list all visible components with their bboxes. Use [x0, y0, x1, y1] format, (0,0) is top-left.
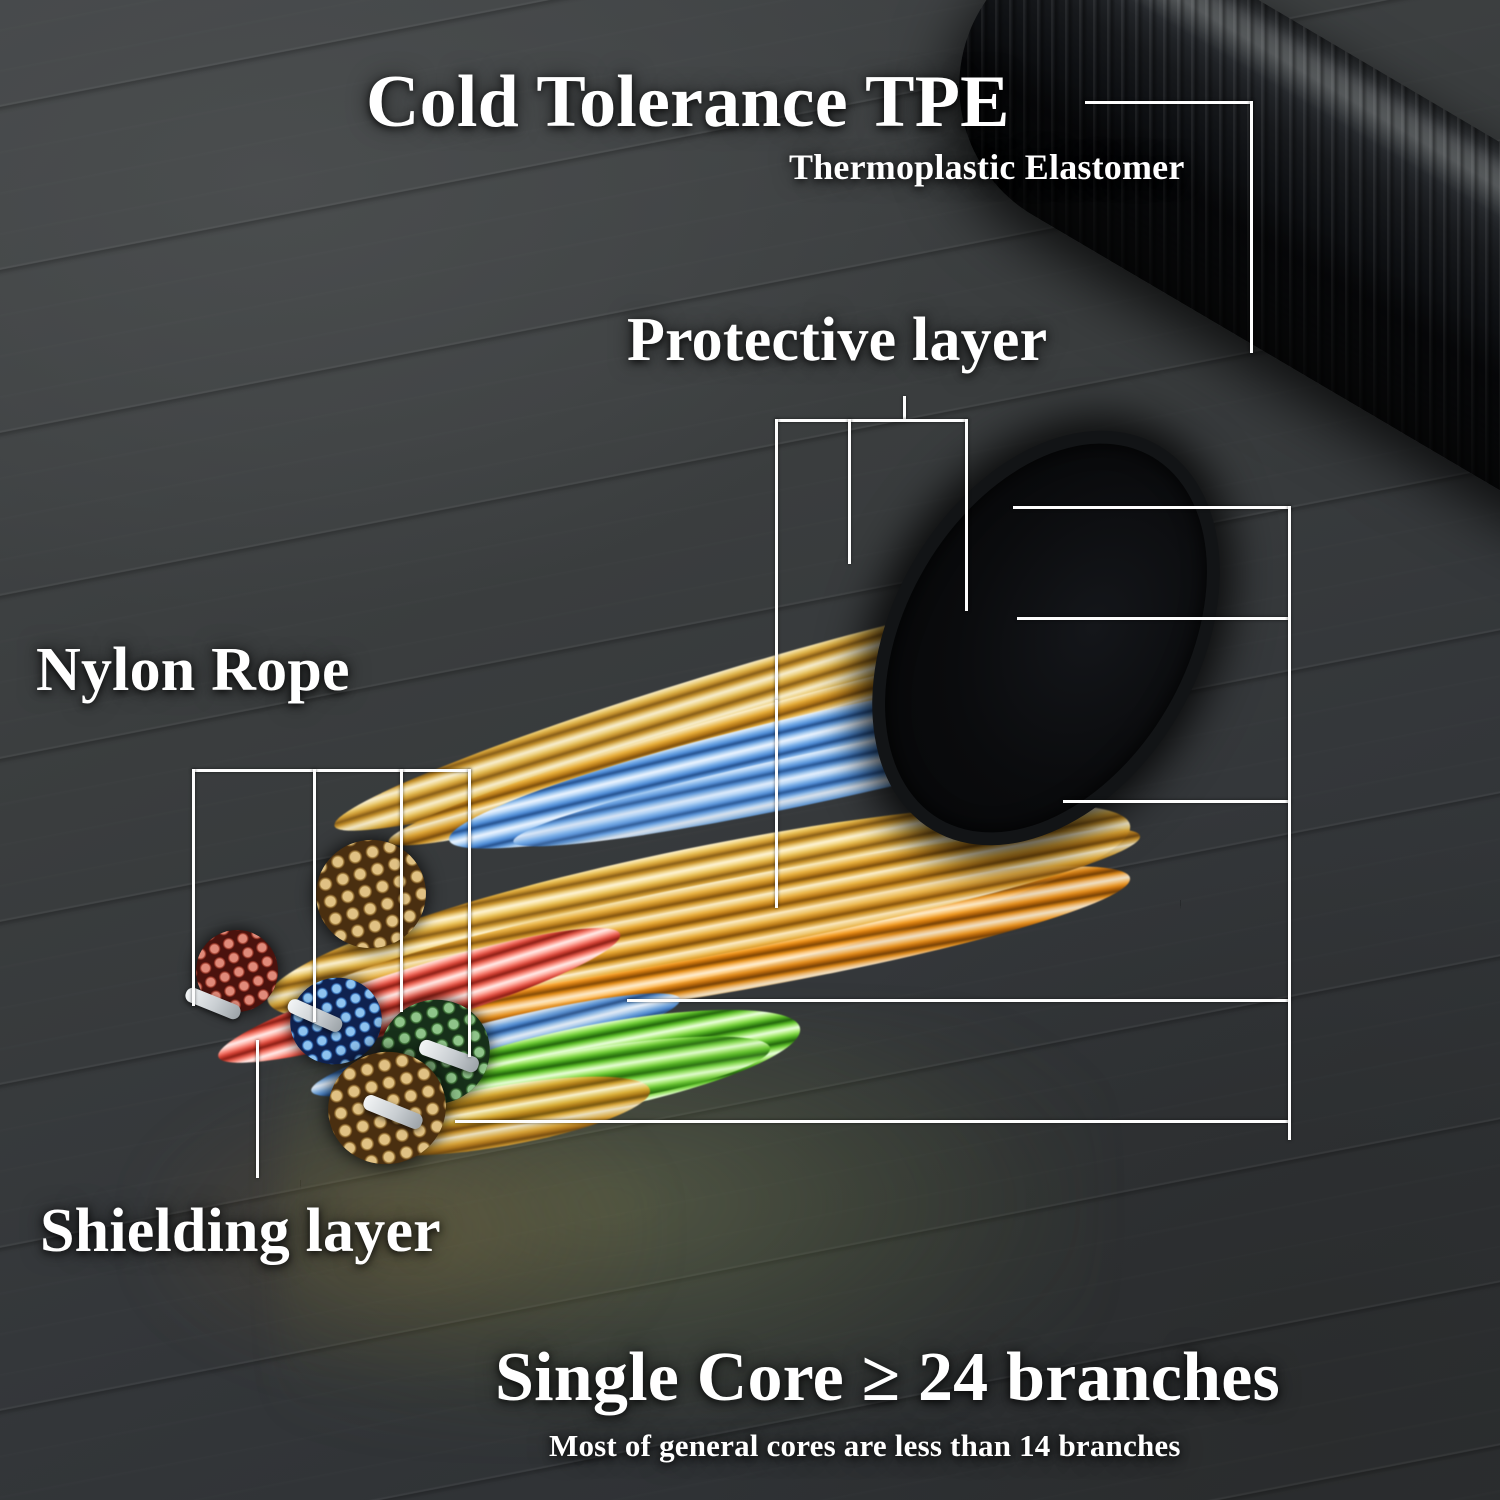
nylon-leg-3 — [400, 769, 403, 1012]
tpe-leader-vertical — [1250, 101, 1253, 353]
nylon-leg-2 — [313, 769, 316, 1022]
infographic-canvas: Cold Tolerance TPE Thermoplastic Elastom… — [0, 0, 1500, 1500]
label-protective-layer: Protective layer — [627, 305, 1047, 376]
tpe-leader-horizontal — [1085, 101, 1253, 104]
core-pointer-gold — [1063, 800, 1290, 803]
protective-stem — [903, 396, 906, 421]
label-thermoplastic-elastomer: Thermoplastic Elastomer — [789, 146, 1185, 188]
protective-leg-2 — [848, 419, 851, 564]
right-collector-vertical — [1288, 506, 1291, 1140]
cable-illustration — [0, 0, 1500, 1500]
core-pointer-bottom — [455, 1120, 1290, 1123]
protective-leg-3 — [965, 419, 968, 611]
protective-leg-1-lower — [775, 700, 778, 908]
protective-bracket-top — [775, 419, 968, 422]
core-pointer-green — [627, 999, 1290, 1002]
protective-leg-1 — [775, 419, 778, 701]
label-nylon-rope: Nylon Rope — [36, 635, 350, 706]
label-single-core: Single Core ≥ 24 branches — [495, 1338, 1280, 1418]
label-cold-tolerance-tpe: Cold Tolerance TPE — [366, 60, 1010, 145]
nylon-bracket-top — [192, 769, 471, 772]
nylon-leg-4 — [468, 769, 471, 1057]
jacket-pointer-mid — [1017, 617, 1290, 620]
nylon-leg-1 — [192, 769, 195, 1006]
jacket-pointer-upper — [1013, 506, 1290, 509]
label-shielding-layer: Shielding layer — [40, 1196, 441, 1267]
shielding-leader — [256, 1040, 259, 1178]
label-single-core-subtitle: Most of general cores are less than 14 b… — [549, 1428, 1181, 1464]
